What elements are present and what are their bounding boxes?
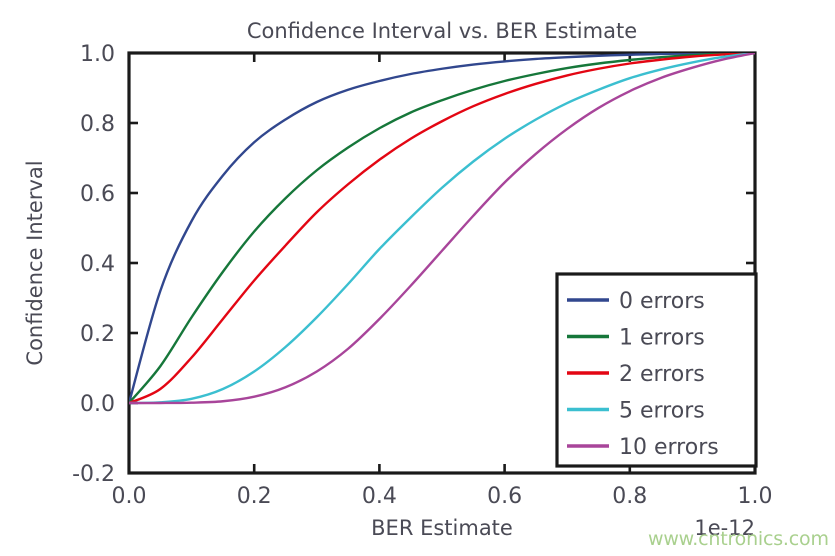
x-tick-label: 0.4 (362, 484, 397, 509)
x-axis-label: BER Estimate (371, 516, 513, 540)
x-tick-label: 1.0 (738, 484, 773, 509)
y-tick-label: -0.2 (72, 462, 115, 487)
x-tick-label: 0.6 (487, 484, 522, 509)
legend-label: 2 errors (619, 362, 705, 387)
y-tick-label: 0.2 (80, 322, 115, 347)
y-tick-label: 1.0 (80, 42, 115, 67)
chart-canvas: Confidence Interval vs. BER Estimate0.00… (0, 0, 835, 556)
y-tick-label: 0.8 (80, 112, 115, 137)
y-tick-label: 0.6 (80, 182, 115, 207)
x-tick-label: 0.0 (112, 484, 147, 509)
y-axis-label: Confidence Interval (23, 160, 47, 365)
chart-title: Confidence Interval vs. BER Estimate (247, 19, 637, 43)
legend-label: 10 errors (619, 435, 719, 460)
watermark-text: www.cntronics.com (648, 528, 829, 550)
x-tick-label: 0.8 (612, 484, 647, 509)
chart-figure: Confidence Interval vs. BER Estimate0.00… (0, 0, 835, 556)
legend-label: 5 errors (619, 399, 705, 424)
legend-label: 1 errors (619, 326, 705, 351)
x-tick-label: 0.2 (237, 484, 272, 509)
y-tick-label: 0.4 (80, 252, 115, 277)
chart-legend[interactable]: 0 errors1 errors2 errors5 errors10 error… (557, 274, 756, 466)
legend-label: 0 errors (619, 289, 705, 314)
y-tick-label: 0.0 (80, 392, 115, 417)
